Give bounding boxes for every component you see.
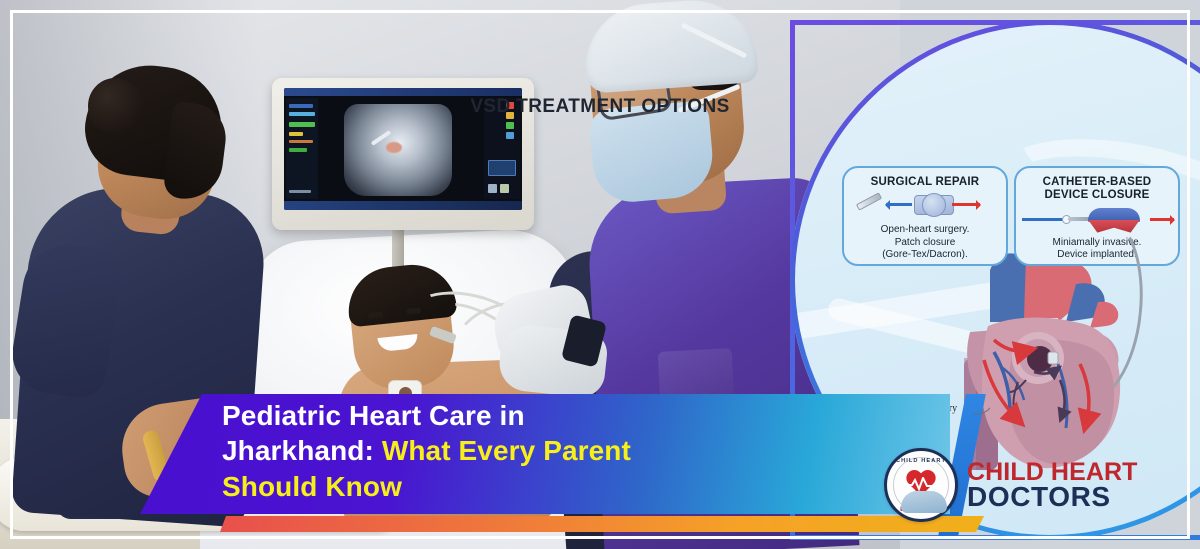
arrow-left-blue-icon (886, 203, 912, 206)
option-card-surgical-repair: SURGICAL REPAIR Open-heart surgery. Patc… (842, 166, 1008, 266)
hands-icon (901, 491, 947, 513)
page-title: Pediatric Heart Care in Jharkhand: What … (222, 398, 862, 504)
headline-line-2: Jharkhand: What Every Parent (222, 433, 862, 468)
child-eye (368, 311, 383, 318)
blog-banner: VSD TREATMENT OPTIONS SURGICAL REPAIR Op… (0, 0, 1200, 549)
option-desc-line: Open-heart surgery. (850, 224, 1000, 236)
monitor-chip (500, 184, 509, 193)
option-title: SURGICAL REPAIR (844, 176, 1006, 189)
headline-line-2-highlight: What Every Parent (382, 435, 631, 466)
echo-doppler-dot (386, 142, 402, 153)
headline-line-2-white: Jharkhand: (222, 435, 382, 466)
headline-line-3: Should Know (222, 469, 862, 504)
option-desc-line: Patch closure (850, 237, 1000, 249)
option-title-line: DEVICE CLOSURE (1016, 189, 1178, 202)
monitor-chip (289, 122, 315, 127)
logo-wordmark-line-2: DOCTORS (967, 484, 1138, 511)
accent-gradient-bar (220, 516, 984, 532)
emblem-top-text: CHILD HEART (887, 458, 955, 464)
monitor-top-bar (284, 88, 522, 96)
monitor-chip (289, 148, 307, 152)
option-desc-line: (Gore-Tex/Dacron). (850, 249, 1000, 261)
infographic-title: VSD TREATMENT OPTIONS (0, 96, 1200, 118)
monitor-chip (506, 122, 514, 129)
logo-wordmark-line-1: CHILD HEART (967, 460, 1138, 484)
monitor-chip (289, 190, 311, 193)
monitor-bottom-bar (284, 201, 522, 210)
monitor-chip (289, 132, 303, 136)
option-title: CATHETER-BASED DEVICE CLOSURE (1016, 176, 1178, 203)
catheter-wire-icon (1022, 218, 1066, 221)
headline-line-1: Pediatric Heart Care in (222, 398, 862, 433)
monitor-chip (488, 160, 516, 176)
option-description: Open-heart surgery. Patch closure (Gore-… (844, 224, 1006, 261)
monitor-chip (488, 184, 497, 193)
brand-logo[interactable]: CHILD HEART DOCTORS CHILD HEART DOCTORS (884, 448, 1138, 522)
surgical-repair-diagram (844, 194, 1006, 216)
monitor-chip (289, 140, 313, 143)
ecg-line-icon (903, 477, 945, 491)
arrow-right-red-icon (1150, 218, 1174, 221)
logo-emblem-icon: CHILD HEART DOCTORS (884, 448, 958, 522)
scalpel-icon (856, 193, 882, 211)
monitor-chip (506, 132, 514, 139)
logo-wordmark: CHILD HEART DOCTORS (967, 460, 1138, 511)
arrow-right-red-icon (952, 203, 980, 206)
option-title-line: CATHETER-BASED (1016, 176, 1178, 189)
